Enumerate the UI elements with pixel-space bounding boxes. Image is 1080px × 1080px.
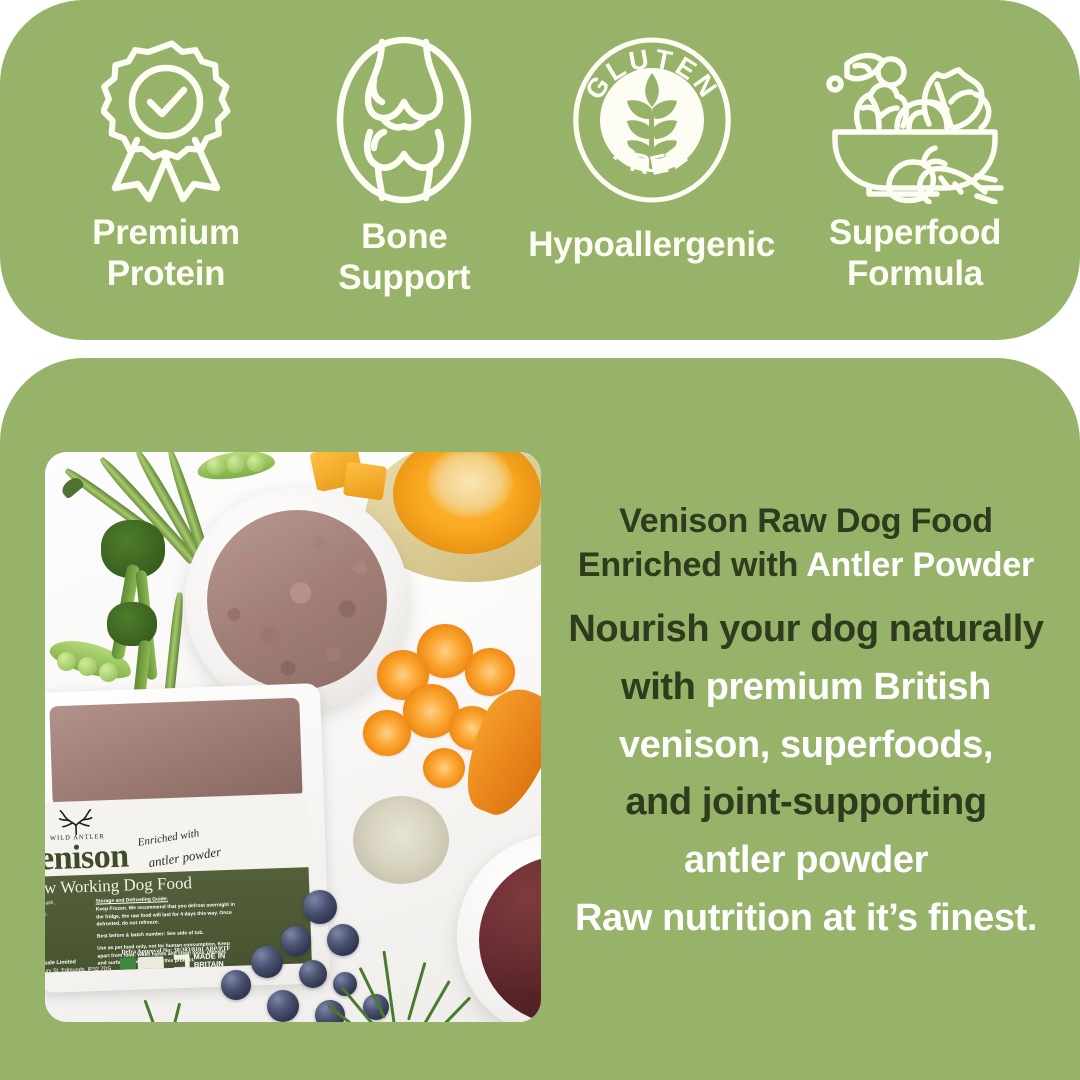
- antler-logo-icon: [52, 808, 99, 836]
- body-line1: Nourish your dog naturally: [568, 608, 1043, 650]
- antler-powder-pile: [353, 796, 449, 884]
- pea: [247, 454, 265, 472]
- blueberry: [315, 1000, 345, 1022]
- badge-premium-protein: Premium Protein: [50, 34, 282, 295]
- body-line6: Raw nutrition at it’s finest.: [575, 897, 1037, 939]
- carrot-slice: [465, 648, 515, 696]
- vegetable-bowl-icon: [825, 34, 1005, 206]
- badge-label-line1: Premium: [92, 213, 240, 252]
- squash-chunk: [343, 461, 387, 500]
- blueberry: [303, 890, 337, 924]
- badge-label: Hypoallergenic: [528, 224, 775, 265]
- badge-label-line1: Superfood: [829, 213, 1001, 252]
- gluten-free-seal-icon: GLUTEN FREE: [567, 34, 737, 206]
- body-line2-dark: with: [621, 666, 706, 708]
- body-line5: antler powder: [684, 839, 928, 881]
- carrot-slice: [423, 748, 465, 788]
- ingredient-line: s, Crude: [45, 926, 56, 938]
- badge-superfood-formula: Superfood Formula: [796, 34, 1034, 295]
- product-headline: Venison Raw Dog Food Enriched with Antle…: [552, 500, 1060, 587]
- pea: [99, 663, 118, 682]
- badge-hypoallergenic: GLUTEN FREE Hypoallergenic: [527, 34, 777, 265]
- blueberry: [251, 946, 283, 978]
- product-photo: WILD ANTLER Venison Enriched with antler…: [45, 452, 541, 1022]
- badge-label: Superfood Formula: [829, 212, 1001, 295]
- feature-badge-panel: Premium Protein Bone Suppo: [0, 0, 1080, 340]
- blueberry: [281, 926, 311, 956]
- badge-label-line2: Formula: [847, 254, 983, 293]
- pea: [207, 457, 225, 475]
- blueberry: [221, 970, 251, 1000]
- badge-label-line1: Bone: [361, 217, 447, 256]
- blueberry: [299, 960, 327, 988]
- minced-venison: [207, 510, 387, 690]
- pea: [78, 657, 97, 676]
- ingredient-line: owder 1%,: [45, 909, 55, 921]
- label-enriched-line2: antler powder: [147, 844, 222, 871]
- headline-antler-powder: Antler Powder: [806, 546, 1034, 584]
- blueberry: [327, 924, 359, 956]
- award-rosette-icon: [101, 34, 231, 206]
- product-description: Nourish your dog naturally with premium …: [552, 601, 1060, 948]
- badge-label-line2: Protein: [107, 254, 225, 293]
- marketing-copy: Venison Raw Dog Food Enriched with Antle…: [552, 500, 1060, 948]
- body-line4: and joint-supporting: [625, 781, 986, 823]
- badge-label: Bone Support: [338, 216, 470, 299]
- tray-meat-block: [49, 698, 302, 807]
- blueberry: [267, 990, 299, 1022]
- body-line2-light: premium British: [706, 666, 991, 708]
- badge-label-line2: Support: [338, 258, 470, 297]
- headline-line2-dark: Enriched with: [578, 546, 806, 584]
- bone-joint-icon: [318, 34, 490, 206]
- badge-label-line1: Hypoallergenic: [528, 225, 775, 264]
- carrot-slice: [363, 710, 411, 756]
- pea: [57, 652, 76, 671]
- label-enriched-line1: Enriched with: [137, 827, 200, 849]
- badge-bone-support: Bone Support: [301, 34, 507, 299]
- headline-line1: Venison Raw Dog Food: [619, 502, 993, 540]
- product-marketing-graphic: Premium Protein Bone Suppo: [0, 0, 1080, 1080]
- broccoli-head: [107, 602, 157, 646]
- pea: [227, 455, 245, 473]
- badge-label: Premium Protein: [92, 212, 240, 295]
- body-line3: venison, superfoods,: [619, 724, 993, 766]
